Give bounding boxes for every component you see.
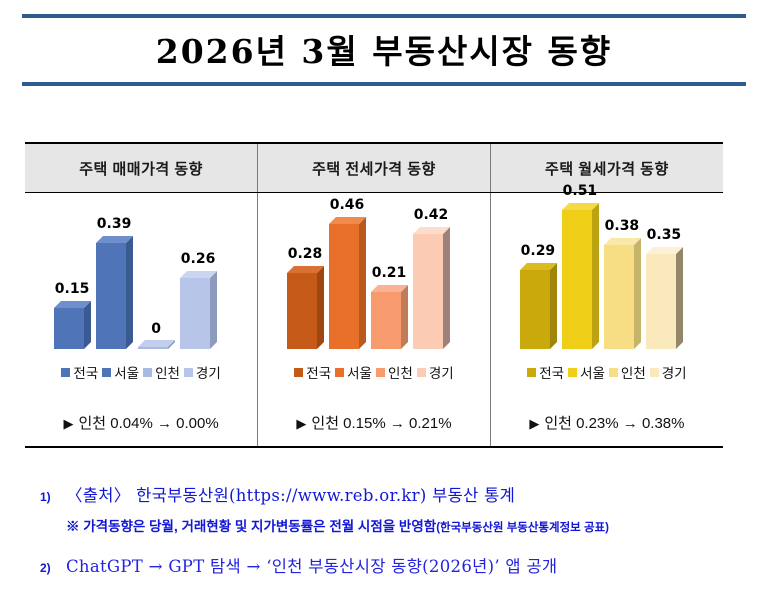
bar-value-label: 0.26: [181, 251, 216, 267]
table-chart-row: 0.150.3900.26 전국서울인천경기 0.280.460.210.42 …: [25, 193, 723, 399]
legend-jeonse: 전국서울인천경기: [258, 362, 490, 382]
bar-value-label: 0.28: [288, 246, 323, 262]
legend-label: 서울: [580, 362, 605, 382]
trend-table: 주택 매매가격 동향 주택 전세가격 동향 주택 월세가격 동향 0.150.3…: [25, 142, 723, 448]
bar-side: [443, 227, 450, 349]
legend-item-인천: 인천: [376, 362, 413, 382]
bar-side: [592, 203, 599, 349]
bar-value-label: 0.35: [647, 227, 682, 243]
bar-value-label: 0.51: [563, 183, 598, 199]
bar-value-label: 0.42: [414, 207, 449, 223]
bar-side: [84, 301, 91, 349]
page-title: 2026년 3월 부동산시장 동향: [22, 18, 746, 82]
legend-swatch-icon: [184, 368, 193, 377]
bar-chart-monthly: 0.290.510.380.35 전국서울인천경기: [491, 193, 723, 398]
legend-monthly: 전국서울인천경기: [491, 362, 723, 382]
bar-face: [562, 210, 592, 349]
bar-face: [371, 292, 401, 349]
legend-label: 서울: [347, 362, 372, 382]
bar-side: [676, 247, 683, 349]
bar-side: [359, 217, 366, 349]
title-rule-bottom: [22, 82, 746, 86]
bar-face: [646, 254, 676, 349]
legend-swatch-icon: [650, 368, 659, 377]
legend-label: 전국: [306, 362, 331, 382]
bar-face: [180, 278, 210, 349]
triangle-icon: ▶: [296, 416, 306, 431]
note-cell-monthly: ▶인천 0.23% → 0.38%: [490, 398, 723, 447]
legend-item-서울: 서울: [102, 362, 139, 382]
footnote-2-marker: 2): [40, 561, 66, 575]
note-text-monthly: 인천 0.23% → 0.38%: [544, 415, 684, 432]
legend-item-경기: 경기: [417, 362, 454, 382]
legend-item-전국: 전국: [61, 362, 98, 382]
chart-cell-sale: 0.150.3900.26 전국서울인천경기: [25, 193, 258, 399]
column-header-monthly: 주택 월세가격 동향: [490, 143, 723, 193]
bar-face: [413, 234, 443, 349]
bar-face: [329, 224, 359, 349]
chart-cell-monthly: 0.290.510.380.35 전국서울인천경기: [490, 193, 723, 399]
legend-item-서울: 서울: [568, 362, 605, 382]
bar-face: [138, 347, 168, 349]
legend-swatch-icon: [294, 368, 303, 377]
legend-label: 경기: [429, 362, 454, 382]
table-note-row: ▶인천 0.04% → 0.00% ▶인천 0.15% → 0.21% ▶인천 …: [25, 398, 723, 447]
bar-value-label: 0.46: [330, 197, 365, 213]
footnote-note-main: ※ 가격동향은 당월, 거래현황 및 지가변동률은 전월 시점을 반영함: [66, 519, 436, 534]
legend-item-경기: 경기: [184, 362, 221, 382]
bar-side: [317, 266, 324, 349]
note-cell-jeonse: ▶인천 0.15% → 0.21%: [258, 398, 491, 447]
note-text-sale: 인천 0.04% → 0.00%: [78, 415, 218, 432]
triangle-icon: ▶: [529, 416, 539, 431]
note-cell-sale: ▶인천 0.04% → 0.00%: [25, 398, 258, 447]
footnote-1-text: 〈출처〉 한국부동산원(https://www.reb.or.kr) 부동산 통…: [66, 482, 515, 506]
title-block: 2026년 3월 부동산시장 동향: [22, 14, 746, 86]
legend-swatch-icon: [376, 368, 385, 377]
bar-side: [210, 271, 217, 349]
plot-area-jeonse: 0.280.460.210.42: [258, 199, 490, 349]
legend-swatch-icon: [102, 368, 111, 377]
footnote-2: 2) ChatGPT → GPT 탐색 → ‘인천 부동산시장 동향(2026년…: [40, 553, 740, 577]
footnote-note-paren: (한국부동산원 부동산통계정보 공표): [436, 522, 609, 534]
legend-swatch-icon: [335, 368, 344, 377]
triangle-icon: ▶: [63, 416, 73, 431]
column-header-jeonse: 주택 전세가격 동향: [258, 143, 491, 193]
bar-face: [604, 245, 634, 349]
legend-swatch-icon: [568, 368, 577, 377]
bar-chart-jeonse: 0.280.460.210.42 전국서울인천경기: [258, 193, 490, 398]
legend-swatch-icon: [61, 368, 70, 377]
column-header-sale: 주택 매매가격 동향: [25, 143, 258, 193]
bar-value-label: 0.29: [521, 243, 556, 259]
bar-face: [287, 273, 317, 349]
bar-face: [96, 243, 126, 349]
bar-side: [401, 285, 408, 349]
legend-label: 서울: [114, 362, 139, 382]
footnotes: 1) 〈출처〉 한국부동산원(https://www.reb.or.kr) 부동…: [40, 482, 740, 577]
bar-value-label: 0.15: [55, 281, 90, 297]
bar-chart-sale: 0.150.3900.26 전국서울인천경기: [25, 193, 257, 398]
legend-label: 전국: [539, 362, 564, 382]
legend-item-전국: 전국: [527, 362, 564, 382]
legend-item-경기: 경기: [650, 362, 687, 382]
legend-item-인천: 인천: [143, 362, 180, 382]
bar-side: [550, 263, 557, 349]
legend-label: 인천: [388, 362, 413, 382]
legend-label: 인천: [621, 362, 646, 382]
legend-label: 인천: [155, 362, 180, 382]
legend-item-전국: 전국: [294, 362, 331, 382]
bar-value-label: 0.39: [97, 216, 132, 232]
legend-label: 전국: [73, 362, 98, 382]
legend-item-인천: 인천: [609, 362, 646, 382]
bar-side: [634, 238, 641, 349]
bar-value-label: 0.38: [605, 218, 640, 234]
table-header-row: 주택 매매가격 동향 주택 전세가격 동향 주택 월세가격 동향: [25, 143, 723, 193]
plot-area-sale: 0.150.3900.26: [25, 199, 257, 349]
bar-value-label: 0.21: [372, 265, 407, 281]
legend-label: 경기: [662, 362, 687, 382]
legend-item-서울: 서울: [335, 362, 372, 382]
bar-face: [520, 270, 550, 349]
legend-swatch-icon: [143, 368, 152, 377]
legend-swatch-icon: [417, 368, 426, 377]
legend-label: 경기: [196, 362, 221, 382]
legend-swatch-icon: [609, 368, 618, 377]
note-text-jeonse: 인천 0.15% → 0.21%: [311, 415, 451, 432]
bar-value-label: 0: [151, 321, 161, 337]
footnote-2-text: ChatGPT → GPT 탐색 → ‘인천 부동산시장 동향(2026년)’ …: [66, 553, 557, 577]
bar-face: [54, 308, 84, 349]
footnote-note-line: ※ 가격동향은 당월, 거래현황 및 지가변동률은 전월 시점을 반영함(한국부…: [66, 515, 740, 535]
chart-cell-jeonse: 0.280.460.210.42 전국서울인천경기: [258, 193, 491, 399]
footnote-1-marker: 1): [40, 490, 66, 504]
bar-side: [126, 236, 133, 349]
footnote-1: 1) 〈출처〉 한국부동산원(https://www.reb.or.kr) 부동…: [40, 482, 740, 506]
plot-area-monthly: 0.290.510.380.35: [491, 199, 723, 349]
legend-swatch-icon: [527, 368, 536, 377]
legend-sale: 전국서울인천경기: [25, 362, 257, 382]
